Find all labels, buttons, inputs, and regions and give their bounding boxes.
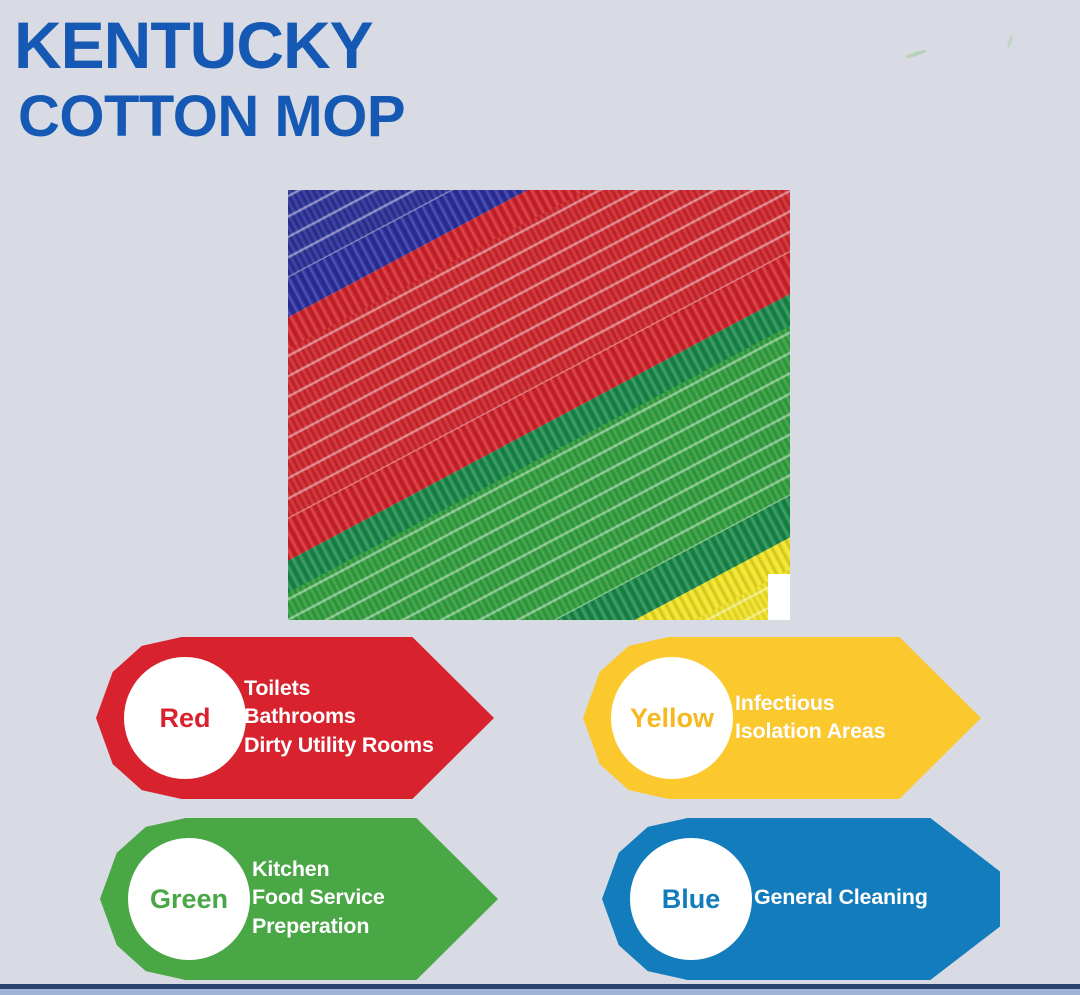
photo-corner-blank — [768, 574, 790, 620]
decorative-speck-icon — [905, 49, 927, 60]
page-title-line-1: KENTUCKY — [14, 12, 405, 78]
badge-color-label-blue: Blue — [630, 838, 752, 960]
page-title: KENTUCKY COTTON MOP — [14, 12, 405, 146]
badge-color-label-yellow: Yellow — [611, 657, 733, 779]
badge-usage-text-yellow: Infectious Isolation Areas — [735, 689, 885, 746]
color-code-badge-green: Green Kitchen Food Service Preperation — [100, 818, 498, 980]
badge-usage-text-green: Kitchen Food Service Preperation — [252, 855, 385, 940]
badge-usage-text-red: Toilets Bathrooms Dirty Utility Rooms — [244, 674, 434, 759]
decorative-speck-icon — [1006, 35, 1014, 49]
footer-divider-light — [0, 989, 1080, 995]
color-code-badge-yellow: Yellow Infectious Isolation Areas — [583, 637, 981, 799]
badge-usage-text-blue: General Cleaning — [754, 883, 928, 911]
badge-color-label-red: Red — [124, 657, 246, 779]
color-code-badge-red: Red Toilets Bathrooms Dirty Utility Room… — [96, 637, 494, 799]
color-code-badge-blue: Blue General Cleaning — [602, 818, 1000, 980]
badge-color-label-green: Green — [128, 838, 250, 960]
product-photo — [288, 190, 790, 620]
mop-heads-illustration — [288, 190, 790, 620]
page-title-line-2: COTTON MOP — [18, 88, 405, 146]
